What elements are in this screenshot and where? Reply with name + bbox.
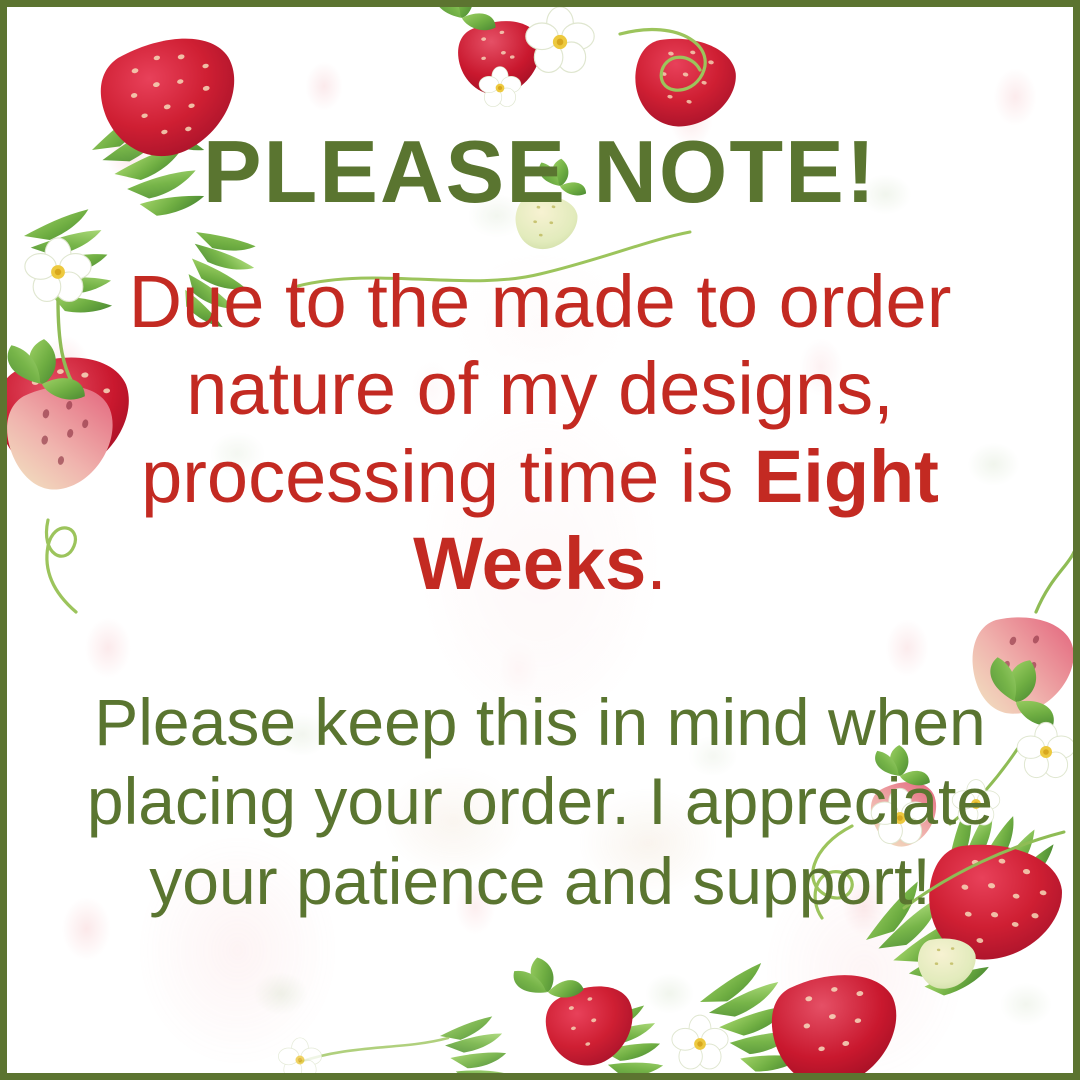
message-content: PLEASE NOTE! Due to the made to order na… bbox=[0, 0, 1080, 1080]
page-title: PLEASE NOTE! bbox=[203, 128, 877, 216]
patience-message: Please keep this in mind when placing yo… bbox=[60, 683, 1020, 921]
processing-time-message: Due to the made to order nature of my de… bbox=[75, 258, 1005, 607]
announcement-graphic: PLEASE NOTE! Due to the made to order na… bbox=[0, 0, 1080, 1080]
processing-time-tail: . bbox=[646, 522, 667, 605]
